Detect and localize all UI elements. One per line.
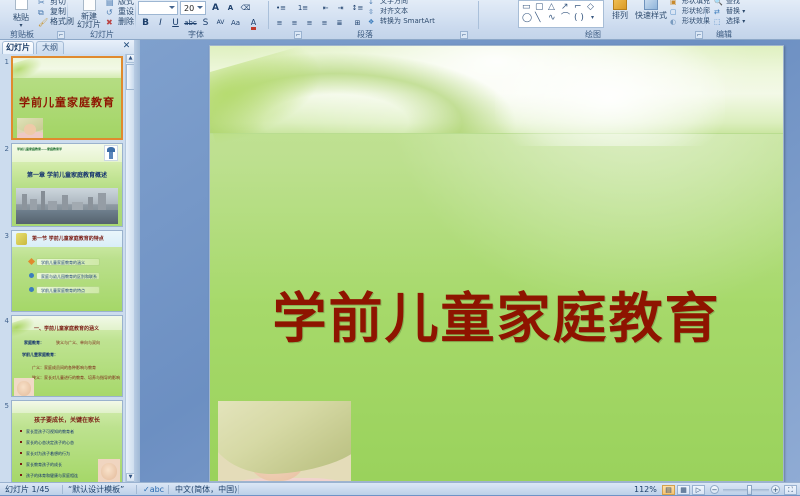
insert-table-button[interactable]: ⊞ (350, 16, 365, 29)
leaf-decoration-icon (209, 45, 332, 145)
thumb-title: 一、学前儿童家庭教育的涵义 (34, 325, 99, 332)
columns-icon: ≣ (337, 19, 343, 27)
slide-number: 4 (1, 317, 9, 325)
slide-number: 3 (1, 232, 9, 240)
slide-thumbnail[interactable]: 学前儿童家庭教育——家庭教育学 第一章 学前儿童家庭教育概述 (11, 143, 123, 227)
thumb-city-photo (16, 188, 118, 224)
underline-button[interactable]: U (168, 16, 183, 29)
group-label-slides: 幻灯片 (68, 30, 136, 40)
align-right-icon: ≡ (307, 19, 313, 27)
thumb-bullet: 家长是孩子可视知的教育者 (26, 429, 74, 435)
shape-rounded-icon[interactable]: ▢ (535, 3, 544, 11)
replace-icon: ⇄ (714, 7, 724, 16)
thumb-bullet: 学前儿童家庭教育的涵义 (36, 258, 100, 266)
clipboard-dialog-launcher[interactable]: ⌐ (57, 31, 65, 39)
italic-button[interactable]: I (153, 16, 168, 29)
numbering-icon: 1≡ (298, 4, 308, 12)
paste-icon (6, 0, 36, 12)
group-label-clipboard: 剪贴板 (0, 30, 56, 40)
ribbon-group-drawing: ▭ ▢ △ ↗ ⌐ ◇ ◯ ╲ ∿ ⌒ ( ) ▾ 排列 快速样式 ▣ 形状填充… (480, 0, 706, 40)
glow-decoration-icon (495, 45, 725, 146)
slide-number: 1 (1, 58, 9, 66)
underline-label: U (172, 18, 179, 28)
bullets-icon: •≡ (276, 4, 286, 12)
group-separator (478, 1, 479, 29)
group-separator (268, 1, 269, 29)
ribbon: 粘贴 ▾ ✂ 剪切 ⧉ 复制 🖌 格式刷 剪贴板 ⌐ 新建 幻灯片 ▤ 版式 (0, 0, 800, 40)
align-left-button[interactable]: ≡ (272, 16, 287, 29)
thumb-bullet: 家庭与幼儿园教育的区别和联系 (36, 272, 100, 280)
group-label-font: 字体 (146, 30, 246, 40)
list-item[interactable]: 2 学前儿童家庭教育——家庭教育学 第一章 学前儿童家庭教育概述 (0, 143, 125, 227)
find-label: 查找 (726, 0, 740, 5)
grow-font-button[interactable]: A (208, 1, 223, 14)
shape-effects-icon: ◐ (670, 17, 680, 26)
slide-thumbnail[interactable]: 孩子要成长，关键在家长 家长是孩子可视知的教育者 家长的心态决定孩子的心态 家长… (11, 400, 123, 482)
numbering-button[interactable]: 1≡ (294, 1, 312, 14)
reset-icon: ↺ (106, 7, 116, 16)
line-spacing-button[interactable]: ↕≡ (350, 1, 365, 14)
font-color-button[interactable]: A (246, 16, 261, 29)
spacing-label: AV (217, 19, 225, 26)
decrease-indent-button[interactable]: ⇤ (318, 1, 333, 14)
shapes-gallery[interactable]: ▭ ▢ △ ↗ ⌐ ◇ ◯ ╲ ∿ ⌒ ( ) ▾ (518, 0, 604, 28)
align-left-icon: ≡ (277, 19, 283, 27)
pane-tab-strip: 幻灯片 大纲 ✕ (0, 40, 134, 54)
text-shadow-button[interactable]: S (198, 16, 213, 29)
slide-thumbnail[interactable]: 第一节 学前儿童家庭教育的特点 学前儿童家庭教育的涵义 家庭与幼儿园教育的区别和… (11, 230, 123, 312)
photo-blanket (218, 401, 351, 478)
language-indicator[interactable]: 中文(简体，中国) (175, 483, 237, 496)
font-name-combo[interactable] (138, 1, 178, 15)
slides-pane: 幻灯片 大纲 ✕ 1 学前儿童家庭教育 2 (0, 40, 134, 482)
slide-thumbnail[interactable]: 学前儿童家庭教育 (11, 56, 123, 140)
shape-bracket-icon[interactable]: ⌒ (561, 14, 570, 22)
quick-styles-button[interactable]: 快速样式 (634, 0, 668, 21)
thumb-bullet: 家长的心态决定孩子的心态 (26, 440, 74, 446)
select-label: 选择 (726, 17, 740, 25)
shape-curve-icon[interactable]: ∿ (548, 14, 556, 22)
paintbrush-icon: 🖌 (38, 17, 48, 26)
case-label: Aa (231, 19, 240, 27)
paste-label: 粘贴 (13, 13, 29, 22)
normal-view-button[interactable]: ▤ (662, 485, 675, 495)
shape-diamond-icon[interactable]: ◇ (587, 3, 594, 11)
slide-show-button[interactable]: ▷ (692, 485, 705, 495)
delete-slide-button[interactable]: ✖ 删除 (106, 16, 134, 27)
copy-label: 复制 (50, 7, 66, 16)
ribbon-group-clipboard: 粘贴 ▾ ✂ 剪切 ⧉ 复制 🖌 格式刷 剪贴板 ⌐ (0, 0, 68, 40)
chevron-down-icon[interactable]: ▾ (6, 23, 36, 28)
copy-icon: ⧉ (38, 7, 48, 16)
pane-scrollbar[interactable]: ▲ ▼ (125, 54, 134, 482)
tab-outline-label: 大纲 (42, 43, 58, 52)
replace-label: 替换 (726, 7, 740, 15)
increase-indent-icon: ⇥ (338, 4, 344, 12)
align-center-button[interactable]: ≡ (287, 16, 302, 29)
tab-slides-label: 幻灯片 (6, 43, 30, 52)
grow-font-label: A (212, 3, 219, 13)
align-center-icon: ≡ (292, 19, 298, 27)
decrease-indent-icon: ⇤ (323, 4, 329, 12)
design-template-name: “默认设计模板” (68, 483, 124, 496)
thumb-title: 学前儿童家庭教育 (13, 94, 121, 110)
thumb-header: 学前儿童家庭教育——家庭教育学 (17, 147, 62, 151)
group-separator (705, 1, 706, 29)
shadow-label: S (203, 18, 209, 28)
new-slide-button[interactable]: 新建 幻灯片 (72, 0, 106, 29)
slide-number: 5 (1, 402, 9, 410)
delete-icon: ✖ (106, 17, 116, 26)
slide-baby-photo[interactable] (218, 401, 351, 482)
delete-label: 删除 (118, 17, 134, 26)
smartart-icon: ❖ (368, 17, 378, 26)
shape-triangle-icon[interactable]: △ (548, 3, 555, 11)
ribbon-group-slides: 新建 幻灯片 ▤ 版式 ↺ 重设 ✖ 删除 幻灯片 (68, 0, 136, 40)
align-text-icon: ⇳ (368, 7, 378, 16)
quick-styles-icon (644, 0, 658, 10)
bold-label: B (142, 18, 149, 28)
change-case-button[interactable]: Aa (228, 16, 243, 29)
text-direction-label: 文字方向 (380, 0, 408, 5)
eraser-icon: ⌫ (241, 4, 251, 12)
thumb-line: 广义：家庭成员间的各种影响与教育 (32, 365, 96, 371)
thumb-bullet: 家长对为孩子着想的行为 (26, 451, 70, 457)
font-size-combo[interactable]: 20 (180, 1, 206, 15)
shape-chevron-icon[interactable]: ⌐ (574, 3, 582, 11)
ribbon-group-editing: 🔍 查找 ⇄ 替换 ▾ ⬚ 选择 ▾ 编辑 (708, 0, 800, 40)
thumb-line: 狭义：家长对儿童进行的教育、培养与指导的影响 (32, 375, 120, 381)
status-divider (238, 485, 239, 494)
arrange-icon (613, 0, 627, 10)
list-item[interactable]: 4 一、学前儿童家庭教育的涵义 家庭教育： 狭义与广义、单向与双向 学前儿童家庭… (0, 315, 125, 397)
thumb-label-1: 家庭教育： (24, 340, 44, 346)
thumb-title: 第一章 学前儿童家庭教育概述 (12, 170, 122, 179)
convert-to-smartart-button[interactable]: ❖ 转换为 SmartArt (368, 16, 435, 27)
thumb-photo (14, 378, 34, 397)
shape-paren-icon[interactable]: ( ) (574, 14, 584, 22)
slide-title-text[interactable]: 学前儿童家庭教育 (210, 274, 783, 353)
thumb-bullet: 学前儿童家庭教育的特点 (36, 286, 100, 294)
chevron-down-icon[interactable]: ▾ (742, 18, 745, 25)
list-item[interactable]: 3 第一节 学前儿童家庭教育的特点 学前儿童家庭教育的涵义 家庭与幼儿园教育的区… (0, 230, 125, 312)
shape-line-icon[interactable]: ╲ (535, 14, 540, 22)
slide-thumbnail[interactable]: 一、学前儿童家庭教育的涵义 家庭教育： 狭义与广义、单向与双向 学前儿童家庭教育… (11, 315, 123, 397)
font-size-value: 20 (184, 4, 194, 13)
chevron-down-icon[interactable]: ▾ (742, 8, 745, 15)
clear-formatting-button[interactable]: ⌫ (238, 1, 253, 14)
thumb-photo (98, 459, 120, 482)
thumb-bullet: 孩子的体育和健康与家庭相连 (26, 473, 78, 479)
status-divider (62, 485, 63, 494)
zoom-in-button[interactable]: + (771, 485, 780, 494)
select-icon: ⬚ (714, 17, 724, 26)
paste-button[interactable]: 粘贴 ▾ (6, 0, 36, 28)
arrange-button[interactable]: 排列 (608, 0, 632, 21)
justify-button[interactable]: ≡ (317, 16, 332, 29)
thumb-label-2: 学前儿童家庭教育： (22, 352, 58, 358)
bullets-button[interactable]: •≡ (272, 1, 290, 14)
shrink-font-button[interactable]: A (223, 1, 238, 14)
thumb-photo (17, 118, 43, 140)
slide-indicator: 幻灯片 1/45 (5, 483, 50, 496)
zoom-slider[interactable] (723, 489, 769, 492)
line-spacing-icon: ↕≡ (352, 4, 364, 12)
table-icon: ⊞ (355, 19, 361, 27)
justify-icon: ≡ (322, 19, 328, 27)
quick-styles-label: 快速样式 (635, 11, 667, 20)
align-right-button[interactable]: ≡ (302, 16, 317, 29)
status-bar: 幻灯片 1/45 “默认设计模板” ✓abc 中文(简体，中国) ▤ ▦ ▷ −… (0, 482, 800, 495)
align-text-label: 对齐文本 (380, 7, 408, 15)
slide-thumbnail-list[interactable]: 1 学前儿童家庭教育 2 学前儿童家庭教育——家庭教育学 (0, 54, 125, 482)
thumb-bullet: 家长教育孩子的成长 (26, 462, 62, 468)
character-spacing-button[interactable]: AV (213, 16, 228, 29)
thumb-title: 孩子要成长，关键在家长 (12, 415, 122, 424)
paragraph-dialog-launcher[interactable]: ⌐ (460, 31, 468, 39)
shape-arrow-icon[interactable]: ↗ (561, 3, 569, 11)
zoom-out-button[interactable]: − (710, 485, 719, 494)
shape-oval-icon[interactable]: ◯ (522, 14, 532, 22)
strike-label: abc (184, 19, 197, 27)
slide-header-band (210, 46, 783, 134)
new-slide-label-2: 幻灯片 (72, 21, 106, 29)
slide-sorter-button[interactable]: ▦ (677, 485, 690, 495)
shrink-font-label: A (228, 4, 233, 12)
zoom-slider-handle[interactable] (747, 485, 752, 495)
pencil-icon (16, 233, 27, 245)
ribbon-group-font: 20 A A ⌫ B I U abc S AV Aa A 字体 ⌐ (136, 0, 236, 40)
group-label-editing: 编辑 (678, 30, 770, 40)
fit-window-button[interactable]: ⛶ (784, 485, 797, 495)
list-item[interactable]: 1 学前儿童家庭教育 (0, 56, 125, 140)
thumb-label-1-text: 狭义与广义、单向与双向 (56, 340, 100, 346)
list-item[interactable]: 5 孩子要成长，关键在家长 家长是孩子可视知的教育者 家长的心态决定孩子的心态 … (0, 400, 125, 482)
thumb-title: 第一节 学前儿童家庭教育的特点 (32, 235, 104, 242)
status-divider (168, 485, 169, 494)
select-button[interactable]: ⬚ 选择 ▾ (714, 16, 745, 27)
smartart-label: 转换为 SmartArt (380, 17, 435, 25)
tab-outline[interactable]: 大纲 (36, 41, 64, 54)
shape-rectangle-icon[interactable]: ▭ (522, 3, 531, 11)
status-divider (136, 485, 137, 494)
italic-label: I (159, 18, 162, 28)
ribbon-group-paragraph: •≡ 1≡ ⇤ ⇥ ↕≡ ≡ ≡ ≡ ≡ ≣ ⊞ ↧ 文字方向 ⇳ 对齐文本 ❖… (270, 0, 382, 40)
columns-button[interactable]: ≣ (332, 16, 347, 29)
tab-slides[interactable]: 幻灯片 (2, 41, 34, 54)
slide-edit-area[interactable]: 学前儿童家庭教育 (140, 40, 800, 482)
shape-effects-button[interactable]: ◐ 形状效果 (670, 16, 710, 27)
spell-check-icon[interactable]: ✓abc (143, 483, 164, 496)
shapes-more-icon[interactable]: ▾ (591, 14, 594, 22)
group-label-paragraph: 段落 (270, 30, 460, 40)
slide-number: 2 (1, 145, 9, 153)
current-slide[interactable]: 学前儿童家庭教育 (209, 45, 784, 482)
zoom-level-label[interactable]: 112% (634, 483, 657, 496)
increase-indent-button[interactable]: ⇥ (333, 1, 348, 14)
shape-outline-icon: ▢ (670, 7, 680, 16)
reset-label: 重设 (118, 7, 134, 16)
font-color-label: A (251, 18, 256, 30)
group-label-drawing: 绘图 (480, 30, 706, 40)
strikethrough-button[interactable]: abc (183, 16, 198, 29)
close-pane-button[interactable]: ✕ (122, 42, 131, 51)
bold-button[interactable]: B (138, 16, 153, 29)
arrange-label: 排列 (612, 11, 628, 20)
